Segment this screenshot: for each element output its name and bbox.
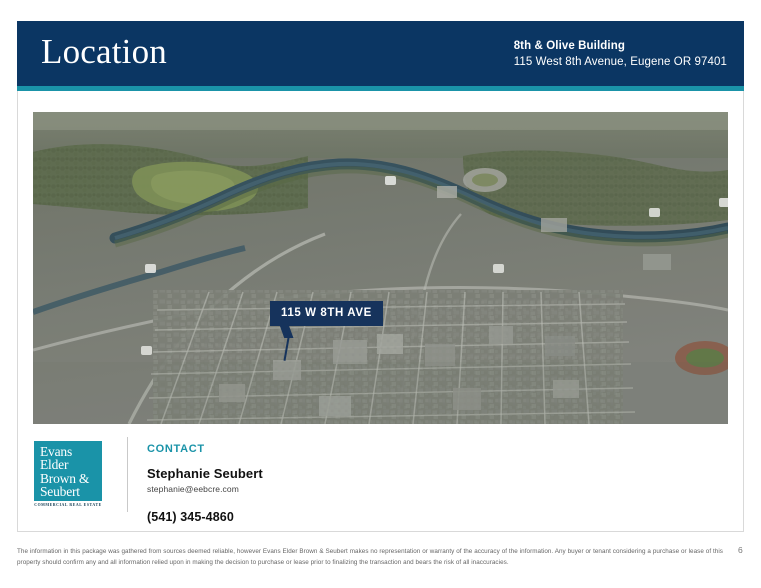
logo-line-3: Brown & <box>40 472 89 485</box>
header-accent-bar <box>17 86 744 91</box>
page-number: 6 <box>738 545 743 555</box>
contact-heading: CONTACT <box>147 442 263 456</box>
logo-line-1: Evans <box>40 445 89 458</box>
building-address: 115 West 8th Avenue, Eugene OR 97401 <box>514 54 727 70</box>
callout-label: 115 W 8TH AVE <box>270 301 383 326</box>
logo-wordmark: Evans Elder Brown & Seubert <box>40 445 89 499</box>
aerial-map-graphic <box>33 112 728 424</box>
contact-divider <box>127 437 128 512</box>
page-title: Location <box>41 30 167 74</box>
company-logo[interactable]: Evans Elder Brown & Seubert COMMERCIAL R… <box>34 441 106 507</box>
page-header-bar: Location 8th & Olive Building 115 West 8… <box>17 21 744 86</box>
contact-email[interactable]: stephanie@eebcre.com <box>147 483 263 496</box>
contact-phone[interactable]: (541) 345-4860 <box>147 509 263 525</box>
logo-line-2: Elder <box>40 458 89 471</box>
building-name: 8th & Olive Building <box>514 38 727 54</box>
header-property-address: 8th & Olive Building 115 West 8th Avenue… <box>514 38 727 70</box>
logo-line-4: Seubert <box>40 485 89 498</box>
contact-section: Evans Elder Brown & Seubert COMMERCIAL R… <box>17 432 744 532</box>
disclaimer-text: The information in this package was gath… <box>17 547 723 568</box>
logo-mark: Evans Elder Brown & Seubert <box>34 441 102 501</box>
logo-tagline: COMMERCIAL REAL ESTATE <box>34 503 102 507</box>
contact-details: CONTACT Stephanie Seubert stephanie@eebc… <box>147 442 263 525</box>
property-callout[interactable]: 115 W 8TH AVE <box>270 301 383 326</box>
aerial-map-image[interactable]: 115 W 8TH AVE <box>33 112 728 424</box>
contact-name: Stephanie Seubert <box>147 466 263 482</box>
brochure-page: Location 8th & Olive Building 115 West 8… <box>0 0 761 588</box>
